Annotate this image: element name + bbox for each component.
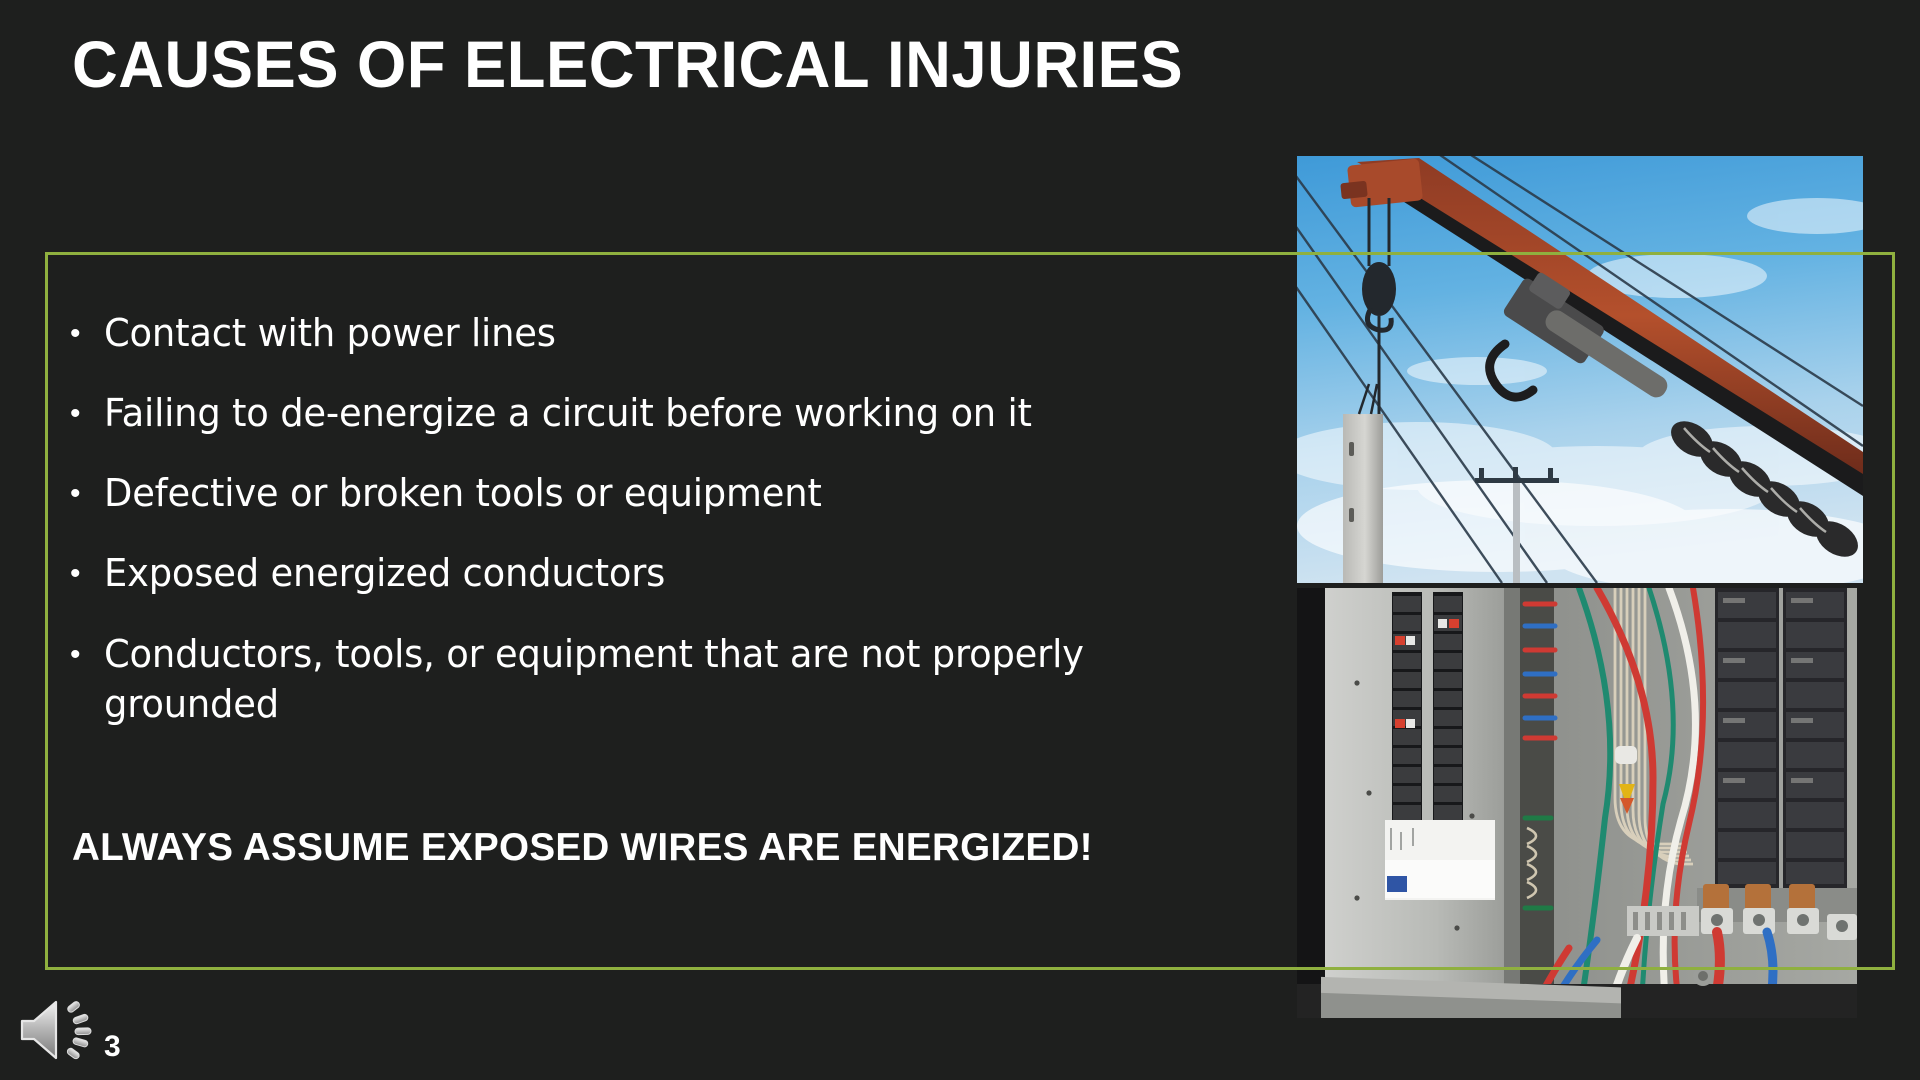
- list-item: • Defective or broken tools or equipment: [70, 468, 1270, 518]
- bullet-marker-icon: •: [70, 388, 104, 434]
- list-item: • Conductors, tools, or equipment that a…: [70, 629, 1270, 729]
- bullet-marker-icon: •: [70, 308, 104, 354]
- slide-canvas: CAUSES OF ELECTRICAL INJURIES: [0, 0, 1920, 1080]
- speaker-audio-icon-art: [18, 996, 110, 1064]
- crane-photo-art: [1297, 156, 1863, 583]
- crane-near-power-lines-photo: [1297, 156, 1863, 583]
- list-item: • Failing to de-energize a circuit befor…: [70, 388, 1270, 438]
- bullet-list: • Contact with power lines • Failing to …: [70, 308, 1270, 759]
- list-item: • Exposed energized conductors: [70, 548, 1270, 598]
- bullet-marker-icon: •: [70, 629, 104, 675]
- bullet-text: Contact with power lines: [104, 308, 556, 358]
- electrical-panel-photo: [1297, 588, 1857, 1018]
- bullet-text: Exposed energized conductors: [104, 548, 665, 598]
- bullet-text: Defective or broken tools or equipment: [104, 468, 822, 518]
- list-item: • Contact with power lines: [70, 308, 1270, 358]
- speaker-audio-icon[interactable]: [18, 996, 110, 1064]
- panel-photo-art: [1297, 588, 1857, 1018]
- warning-statement: ALWAYS ASSUME EXPOSED WIRES ARE ENERGIZE…: [72, 826, 1093, 870]
- bullet-text: Failing to de-energize a circuit before …: [104, 388, 1032, 438]
- bullet-marker-icon: •: [70, 468, 104, 514]
- bullet-text: Conductors, tools, or equipment that are…: [104, 629, 1190, 729]
- bullet-marker-icon: •: [70, 548, 104, 594]
- page-title: CAUSES OF ELECTRICAL INJURIES: [72, 30, 1320, 99]
- slide-number: 3: [104, 1030, 121, 1064]
